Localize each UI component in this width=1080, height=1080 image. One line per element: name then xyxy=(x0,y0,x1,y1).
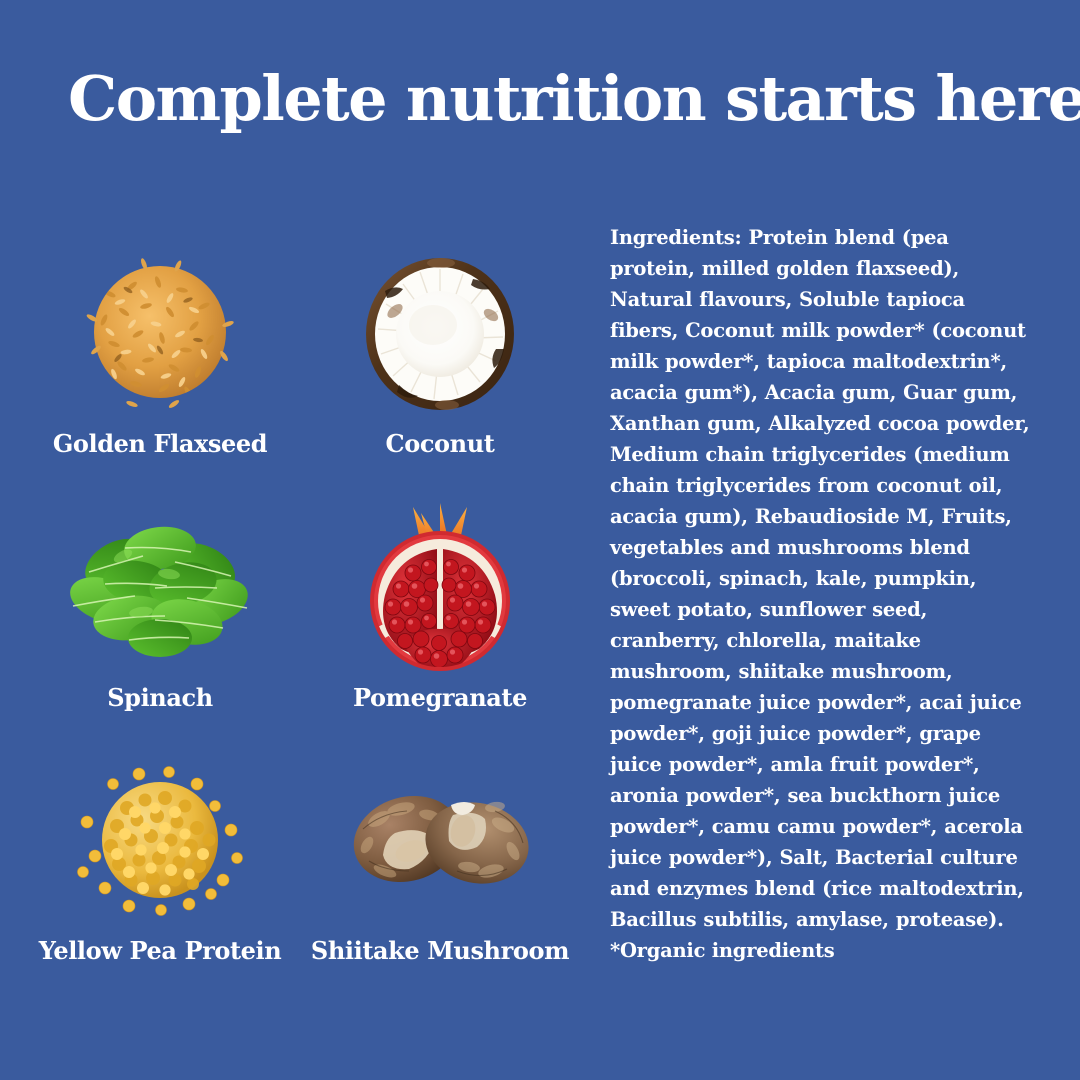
ingredient-grid: Golden Flaxseed xyxy=(20,205,580,965)
page-title: Complete nutrition starts here. xyxy=(68,64,1028,134)
ingredient-label: Yellow Pea Protein xyxy=(39,936,282,965)
ingredients-lead-label: Ingredients: xyxy=(610,226,741,249)
spinach-image xyxy=(65,500,255,675)
yellow-pea-image xyxy=(65,753,255,928)
ingredient-label: Golden Flaxseed xyxy=(53,429,267,458)
ingredients-body: Protein blend (pea protein, milled golde… xyxy=(610,226,1029,931)
pomegranate-image xyxy=(345,500,535,675)
ingredient-card-spinach: Spinach xyxy=(20,458,300,711)
yellow-split-peas-icon xyxy=(65,760,255,920)
ingredient-label: Pomegranate xyxy=(353,683,527,712)
ingredient-label: Shiitake Mushroom xyxy=(311,936,569,965)
coconut-image xyxy=(345,246,535,421)
ingredient-card-yellow-pea-protein: Yellow Pea Protein xyxy=(20,712,300,965)
ingredient-card-shiitake-mushroom: Shiitake Mushroom xyxy=(300,712,580,965)
pomegranate-half-icon xyxy=(355,497,525,677)
organic-footnote: *Organic ingredients xyxy=(610,935,1030,966)
ingredients-panel: Ingredients: Protein blend (pea protein,… xyxy=(610,222,1030,966)
ingredient-card-golden-flaxseed: Golden Flaxseed xyxy=(20,205,300,458)
ingredient-label: Spinach xyxy=(107,683,213,712)
shiitake-mushrooms-icon xyxy=(345,775,535,905)
product-ingredients-panel: Complete nutrition starts here. xyxy=(0,0,1080,1080)
golden-flaxseed-image xyxy=(65,246,255,421)
ingredient-card-pomegranate: Pomegranate xyxy=(300,458,580,711)
ingredient-label: Coconut xyxy=(386,429,495,458)
spinach-leaves-icon xyxy=(65,512,255,662)
ingredients-statement: Ingredients: Protein blend (pea protein,… xyxy=(610,222,1030,935)
coconut-half-icon xyxy=(355,253,525,415)
flaxseed-pile-icon xyxy=(70,254,250,414)
ingredient-card-coconut: Coconut xyxy=(300,205,580,458)
shiitake-image xyxy=(345,753,535,928)
